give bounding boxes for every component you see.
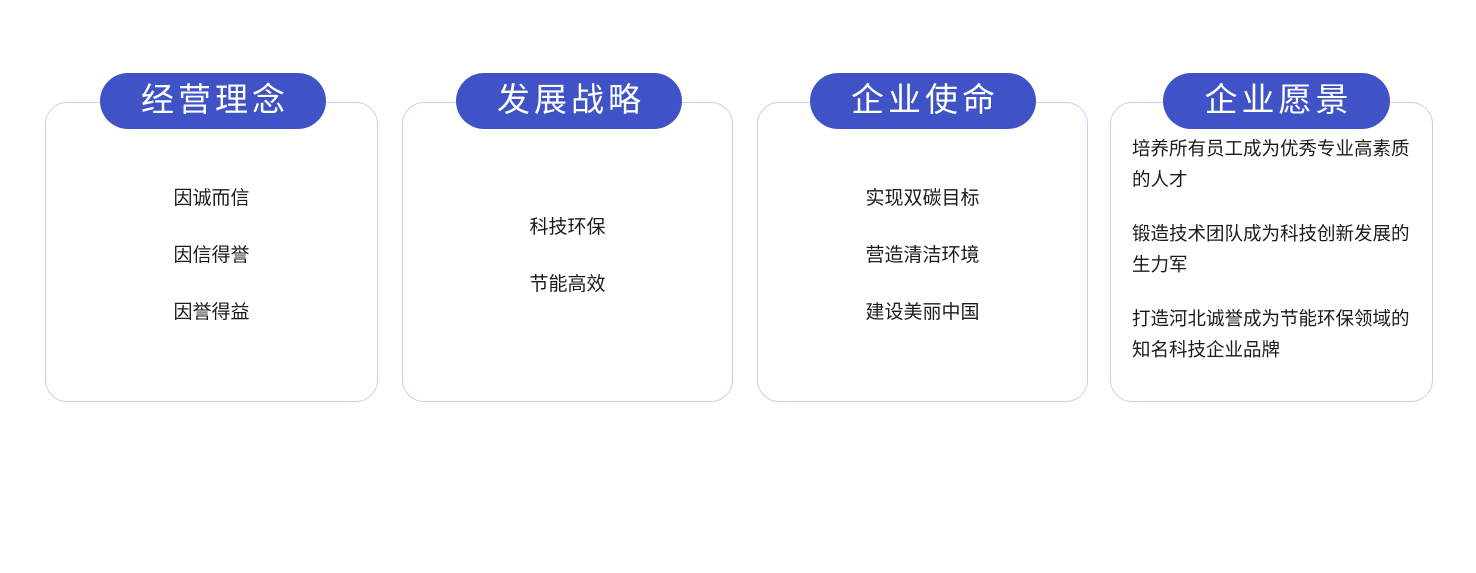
list-item: 建设美丽中国 [757,284,1088,341]
card-title-development-strategy: 发展战略 [456,73,682,129]
list-item: 因信得誉 [45,227,378,284]
list-item: 营造清洁环境 [757,227,1088,284]
card-body-business-philosophy: 因诚而信 因信得誉 因誉得益 [45,170,378,341]
card-body-enterprise-mission: 实现双碳目标 营造清洁环境 建设美丽中国 [757,170,1088,341]
list-item: 科技环保 [402,199,733,256]
list-item: 锻造技术团队成为科技创新发展的生力军 [1132,218,1412,280]
card-title-enterprise-vision: 企业愿景 [1163,73,1390,129]
card-title-enterprise-mission: 企业使命 [810,73,1036,129]
list-item: 节能高效 [402,256,733,313]
card-title-business-philosophy: 经营理念 [100,73,326,129]
list-item: 培养所有员工成为优秀专业高素质的人才 [1132,133,1412,195]
card-body-enterprise-vision: 培养所有员工成为优秀专业高素质的人才 锻造技术团队成为科技创新发展的生力军 打造… [1132,133,1412,365]
list-item: 实现双碳目标 [757,170,1088,227]
list-item: 因誉得益 [45,284,378,341]
list-item: 因诚而信 [45,170,378,227]
culture-cards-canvas: 经营理念 因诚而信 因信得誉 因誉得益 发展战略 科技环保 节能高效 企业使命 … [0,0,1476,573]
card-body-development-strategy: 科技环保 节能高效 [402,199,733,313]
list-item: 打造河北诚誉成为节能环保领域的知名科技企业品牌 [1132,303,1412,365]
card-enterprise-vision: 培养所有员工成为优秀专业高素质的人才 锻造技术团队成为科技创新发展的生力军 打造… [1110,102,1433,402]
